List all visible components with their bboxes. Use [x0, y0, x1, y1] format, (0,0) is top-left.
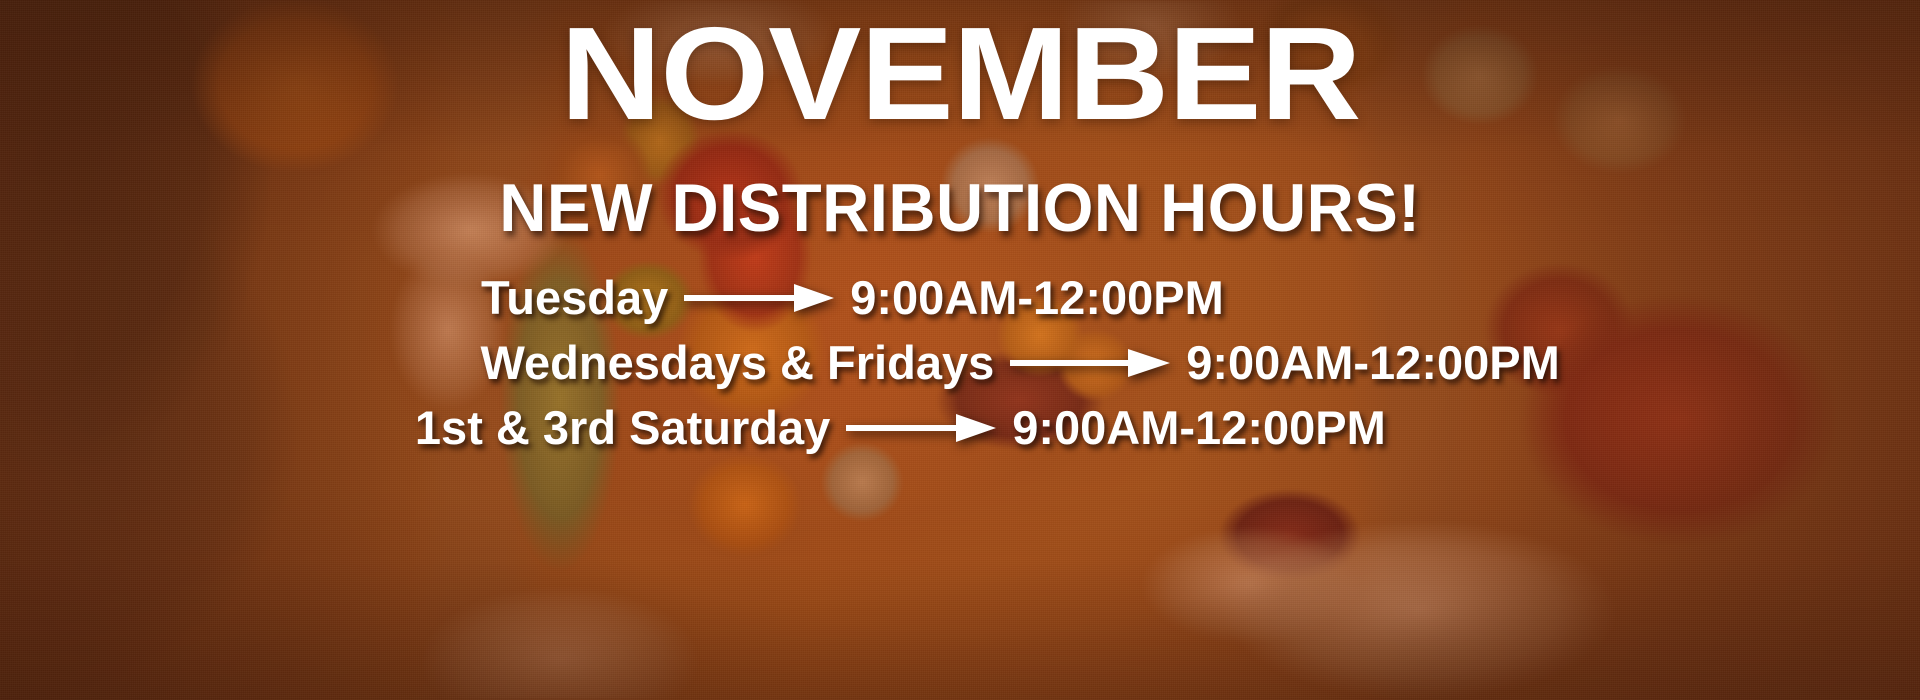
schedule-row-1st-3rd-saturday: 1st & 3rd Saturday 9:00AM-12:00PM [360, 400, 1560, 455]
right-arrow-icon [684, 278, 834, 318]
banner-subtitle-new-distribution-hours: NEW DISTRIBUTION HOURS! [499, 174, 1420, 242]
schedule-day-label: 1st & 3rd Saturday [360, 400, 830, 455]
right-arrow-icon [1010, 343, 1170, 383]
schedule-row-wednesdays-fridays: Wednesdays & Fridays 9:00AM-12:00PM [434, 335, 1560, 390]
schedule-day-label: Tuesday [338, 270, 668, 325]
schedule-day-label: Wednesdays & Fridays [434, 335, 994, 390]
schedule-row-tuesday: Tuesday 9:00AM-12:00PM [338, 270, 1560, 325]
schedule-time-label: 9:00AM-12:00PM [1186, 335, 1560, 390]
banner-title-november: NOVEMBER [560, 8, 1360, 140]
distribution-schedule-list: Tuesday 9:00AM-12:00PM Wednesdays & Frid… [360, 270, 1560, 455]
november-distribution-hours-banner: NOVEMBER NEW DISTRIBUTION HOURS! Tuesday… [0, 0, 1920, 700]
right-arrow-icon [846, 408, 996, 448]
banner-content: NOVEMBER NEW DISTRIBUTION HOURS! Tuesday… [0, 0, 1920, 700]
schedule-time-label: 9:00AM-12:00PM [1012, 400, 1386, 455]
schedule-time-label: 9:00AM-12:00PM [850, 270, 1224, 325]
